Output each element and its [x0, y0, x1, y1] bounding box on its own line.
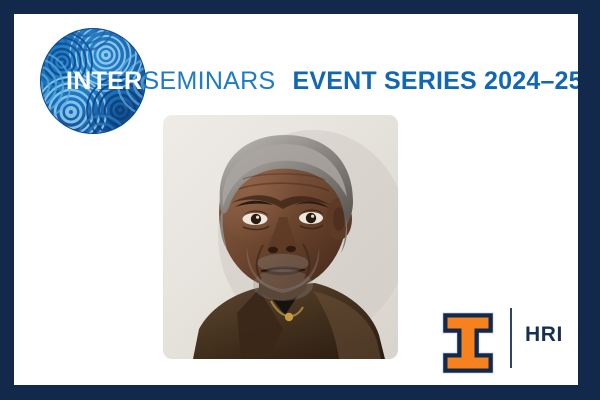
- institution-unit-label: HRI: [525, 324, 563, 345]
- poster-card: INTER SEMINARS EVENT SERIES 2024–25: [14, 14, 578, 385]
- institution-lockup: HRI: [441, 308, 566, 380]
- poster-headline: INTER SEMINARS EVENT SERIES 2024–25: [66, 66, 578, 96]
- vertical-divider-icon: [510, 308, 512, 368]
- headline-event-series: EVENT SERIES 2024–25: [292, 69, 578, 94]
- illinois-block-i-icon: [441, 312, 495, 374]
- poster-header: INTER SEMINARS EVENT SERIES 2024–25: [14, 14, 578, 120]
- speaker-portrait: [163, 115, 398, 359]
- poster-frame: INTER SEMINARS EVENT SERIES 2024–25: [0, 0, 600, 400]
- headline-seminars: SEMINARS: [143, 69, 276, 94]
- headline-inter: INTER: [66, 69, 143, 94]
